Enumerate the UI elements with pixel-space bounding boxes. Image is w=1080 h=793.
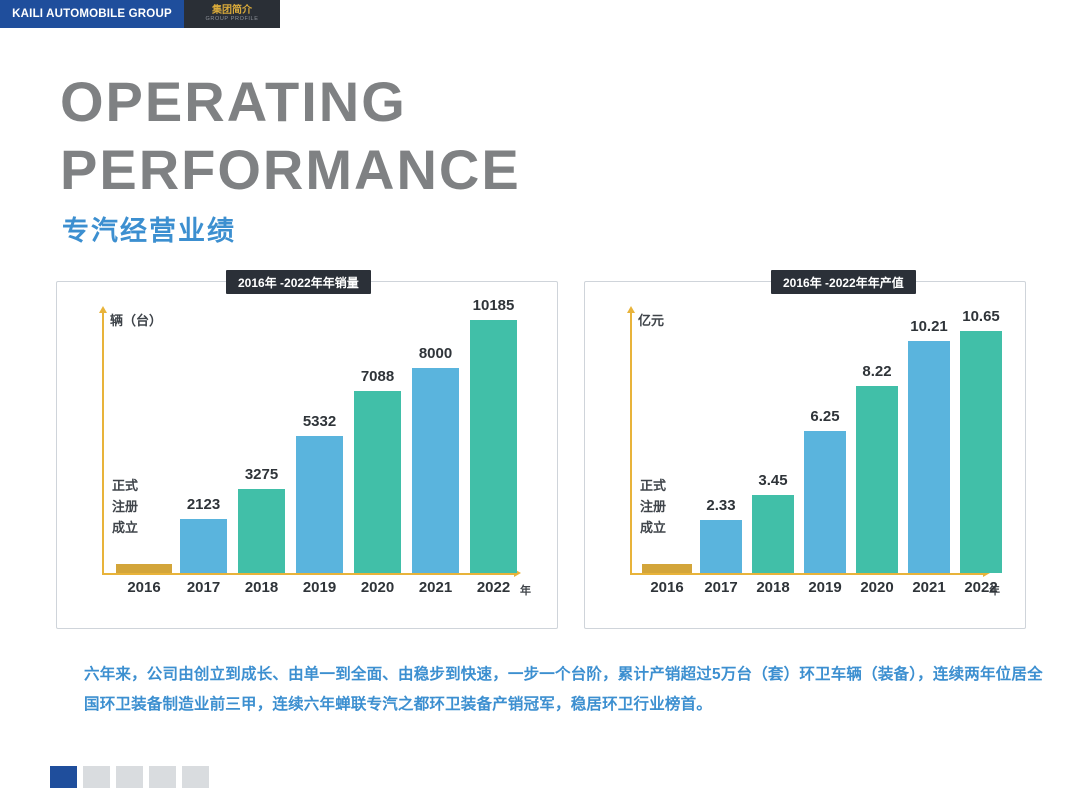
bar-2022[interactable]: 10185 2022	[470, 320, 517, 573]
bar-category-2021: 2021	[419, 579, 452, 596]
bar-category-2020: 2020	[361, 579, 394, 596]
page-title: OPERATING PERFORMANCE	[60, 68, 760, 204]
chart-panel-output-value: 2016年 -2022年年产值 亿元 年 正式 注册 成立 2016 2.33 …	[584, 281, 1026, 629]
bar-2017[interactable]: 2123 2017	[180, 519, 227, 573]
nav-tab-label-en: GROUP PROFILE	[206, 16, 259, 23]
chart-title-output-value: 2016年 -2022年年产值	[771, 270, 916, 294]
bar-category-2022-value: 2022	[964, 579, 997, 596]
bar-2018[interactable]: 3275 2018	[238, 489, 285, 573]
bar-category-2016-value: 2016	[650, 579, 683, 596]
bar-category-2019: 2019	[303, 579, 336, 596]
bar-value-2017-value: 2.33	[706, 497, 735, 514]
x-axis-line-output-value	[630, 573, 983, 575]
bar-2021[interactable]: 8000 2021	[412, 368, 459, 573]
bar-value-2019: 5332	[303, 413, 336, 430]
bar-category-2016: 2016	[127, 579, 160, 596]
bar-2016-value[interactable]: 2016	[642, 564, 692, 573]
brand-logo: KAILI AUTOMOBILE GROUP	[0, 0, 184, 28]
x-axis-line-sales	[102, 573, 514, 575]
bar-value-2018: 3275	[245, 466, 278, 483]
page-title-line1: OPERATING	[60, 68, 760, 136]
top-header-bar: KAILI AUTOMOBILE GROUP 集团简介 GROUP PROFIL…	[0, 0, 1080, 28]
footer-square-1	[50, 766, 77, 788]
bar-category-2020-value: 2020	[860, 579, 893, 596]
bar-2019[interactable]: 5332 2019	[296, 436, 343, 573]
bar-value-2020-value: 8.22	[862, 363, 891, 380]
bar-2020-value[interactable]: 8.22 2020	[856, 386, 898, 573]
bar-category-2019-value: 2019	[808, 579, 841, 596]
bar-2017-value[interactable]: 2.33 2017	[700, 520, 742, 573]
bar-value-2021: 8000	[419, 345, 452, 362]
page-subtitle: 专汽经营业绩	[62, 209, 236, 248]
bar-category-2017: 2017	[187, 579, 220, 596]
bar-category-2017-value: 2017	[704, 579, 737, 596]
nav-tab-label-cn: 集团简介	[212, 5, 252, 16]
bar-value-2022: 10185	[473, 297, 515, 314]
bar-value-2020: 7088	[361, 368, 394, 385]
bar-category-2018-value: 2018	[756, 579, 789, 596]
chart-panel-sales: 2016年 -2022年年销量 辆（台） 年 正式 注册 成立 2016 212…	[56, 281, 558, 629]
y-axis-arrow-output-value	[627, 306, 635, 313]
bar-2019-value[interactable]: 6.25 2019	[804, 431, 846, 573]
bar-2020[interactable]: 7088 2020	[354, 391, 401, 573]
bar-value-2018-value: 3.45	[758, 472, 787, 489]
bar-value-2022-value: 10.65	[962, 308, 1000, 325]
chart-title-sales: 2016年 -2022年年销量	[226, 270, 371, 294]
footer-square-5	[182, 766, 209, 788]
bar-value-2021-value: 10.21	[910, 318, 948, 335]
bar-2022-value[interactable]: 10.65 2022	[960, 331, 1002, 573]
bar-category-2022: 2022	[477, 579, 510, 596]
plot-area-output-value: 2016 2.33 2017 3.45 2018 6.25 2019 8.22 …	[630, 313, 983, 573]
footer-square-2	[83, 766, 110, 788]
bar-2021-value[interactable]: 10.21 2021	[908, 341, 950, 573]
bar-category-2018: 2018	[245, 579, 278, 596]
footer-square-3	[116, 766, 143, 788]
bar-category-2021-value: 2021	[912, 579, 945, 596]
plot-area-sales: 2016 2123 2017 3275 2018 5332 2019 7088 …	[102, 313, 514, 573]
footer-square-4	[149, 766, 176, 788]
y-axis-arrow-sales	[99, 306, 107, 313]
page-title-line2: PERFORMANCE	[60, 136, 760, 204]
bar-value-2017: 2123	[187, 496, 220, 513]
bar-2018-value[interactable]: 3.45 2018	[752, 495, 794, 573]
x-axis-label-sales: 年	[520, 582, 531, 598]
nav-tab-group-profile[interactable]: 集团简介 GROUP PROFILE	[184, 0, 280, 28]
bar-value-2019-value: 6.25	[810, 408, 839, 425]
bar-2016[interactable]: 2016	[116, 564, 172, 573]
summary-paragraph: 六年来，公司由创立到成长、由单一到全面、由稳步到快速，一步一个台阶，累计产销超过…	[84, 660, 1044, 720]
